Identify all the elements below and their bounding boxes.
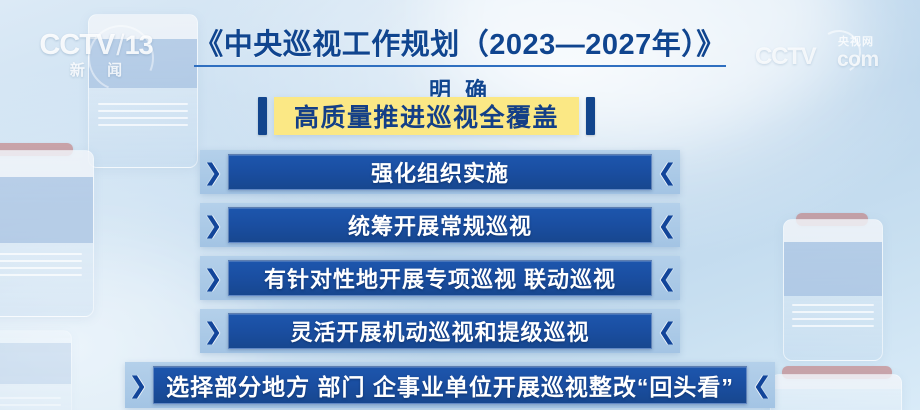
chevron-right-icon: ❯ <box>200 267 226 290</box>
chevron-left-icon: ❮ <box>749 374 775 397</box>
bullet-bar: 灵活开展机动巡视和提级巡视 <box>228 313 652 349</box>
chevron-left-icon: ❮ <box>654 214 680 237</box>
bullet-bar: 强化组织实施 <box>228 154 652 190</box>
banner-tick-left <box>258 97 267 135</box>
decorative-clip <box>796 213 868 226</box>
decorative-clip <box>782 366 892 379</box>
bullet-label: 有针对性地开展专项巡视 联动巡视 <box>264 262 616 294</box>
decorative-clipboard-right <box>783 219 883 361</box>
bullet-row-5: ❯ 选择部分地方 部门 企事业单位开展巡视整改“回头看” ❮ <box>125 362 775 408</box>
decorative-clipboard-bottom-right <box>770 374 902 410</box>
chevron-right-icon: ❯ <box>125 374 151 397</box>
page-title: 《中央巡视工作规划（2023—2027年）》 <box>194 30 726 67</box>
highlight-banner: 高质量推进巡视全覆盖 <box>258 97 595 135</box>
headline-block: 《中央巡视工作规划（2023—2027年）》 明 确 <box>0 30 920 105</box>
decorative-band <box>771 375 901 389</box>
chevron-right-icon: ❯ <box>200 161 226 184</box>
broadcast-graphic-stage: CCTV / 13 新 闻 CCTV 央视网 com 《中央巡视工作规划（202… <box>0 0 920 410</box>
decorative-band <box>0 177 93 243</box>
decorative-document-lower-left <box>0 330 72 410</box>
decorative-band <box>0 151 93 177</box>
bullet-row-1: ❯ 强化组织实施 ❮ <box>200 150 680 194</box>
chevron-left-icon: ❮ <box>654 267 680 290</box>
banner-tick-right <box>586 97 595 135</box>
bullet-bar: 选择部分地方 部门 企事业单位开展巡视整改“回头看” <box>153 366 747 404</box>
bullet-label: 选择部分地方 部门 企事业单位开展巡视整改“回头看” <box>166 368 734 402</box>
chevron-right-icon: ❯ <box>200 320 226 343</box>
banner-label: 高质量推进巡视全覆盖 <box>294 98 559 134</box>
decorative-lines <box>792 304 874 332</box>
bullet-row-4: ❯ 灵活开展机动巡视和提级巡视 ❮ <box>200 309 680 353</box>
decorative-lines <box>0 253 82 281</box>
bullet-label: 灵活开展机动巡视和提级巡视 <box>290 315 589 347</box>
decorative-clipboard-left <box>0 150 94 317</box>
chevron-left-icon: ❮ <box>654 320 680 343</box>
banner-body: 高质量推进巡视全覆盖 <box>274 97 579 135</box>
bullet-label: 强化组织实施 <box>371 156 509 188</box>
decorative-band <box>784 242 882 295</box>
decorative-clip <box>0 143 73 156</box>
decorative-lines <box>98 103 189 131</box>
decorative-band <box>0 343 71 384</box>
bullet-label: 统筹开展常规巡视 <box>348 209 532 241</box>
bullet-bar: 有针对性地开展专项巡视 联动巡视 <box>228 260 652 296</box>
chevron-left-icon: ❮ <box>654 161 680 184</box>
chevron-right-icon: ❯ <box>200 214 226 237</box>
bullet-row-3: ❯ 有针对性地开展专项巡视 联动巡视 ❮ <box>200 256 680 300</box>
bullet-row-2: ❯ 统筹开展常规巡视 ❮ <box>200 203 680 247</box>
decorative-band <box>784 220 882 242</box>
bullet-bar: 统筹开展常规巡视 <box>228 207 652 243</box>
decorative-lines <box>0 397 61 410</box>
